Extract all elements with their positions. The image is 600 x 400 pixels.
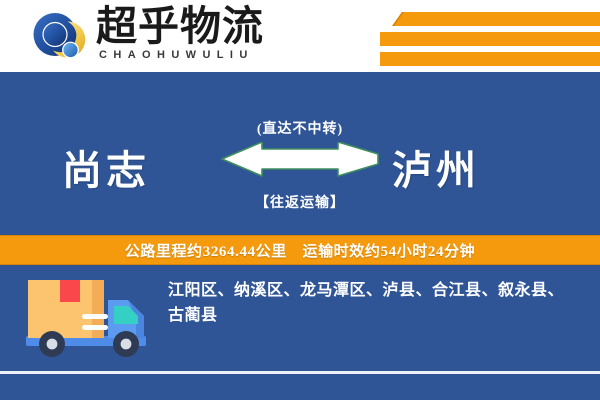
destination-city: 泸州 xyxy=(392,138,480,196)
speed-stripes-icon xyxy=(380,8,600,66)
roundtrip-note: 【往返运输】 xyxy=(218,192,382,212)
banner-header: 超乎物流 CHAOHUWULIU xyxy=(0,0,600,72)
double-headed-arrow-icon xyxy=(220,142,380,186)
brand-name-cn: 超乎物流 xyxy=(96,3,264,49)
route-middle: (直达不中转) 【往返运输】 xyxy=(218,116,382,226)
origin-city: 尚志 xyxy=(62,138,150,196)
direct-route-note: (直达不中转) xyxy=(218,118,382,138)
distance-duration-bar: 公路里程约3264.44公里 运输时效约54小时24分钟 xyxy=(0,235,600,265)
delivery-truck-icon xyxy=(22,274,162,366)
chaohu-circle-logo-icon xyxy=(30,10,86,66)
route-row: 尚志 (直达不中转) 【往返运输】 泸州 xyxy=(0,116,600,226)
brand-name-en: CHAOHUWULIU xyxy=(99,49,254,61)
coverage-areas-text: 江阳区、纳溪区、龙马潭区、泸县、合江县、叙永县、古蔺县 xyxy=(168,278,580,328)
footer-divider xyxy=(0,371,600,374)
banner-body: 尚志 (直达不中转) 【往返运输】 泸州 公路里程约3264.44公里 运输时效… xyxy=(0,72,600,400)
logistics-banner: 超乎物流 CHAOHUWULIU 尚志 (直达不中转) 【 xyxy=(0,0,600,400)
coverage-row: 江阳区、纳溪区、龙马潭区、泸县、合江县、叙永县、古蔺县 xyxy=(0,272,600,372)
distance-duration-text: 公路里程约3264.44公里 运输时效约54小时24分钟 xyxy=(125,240,476,261)
